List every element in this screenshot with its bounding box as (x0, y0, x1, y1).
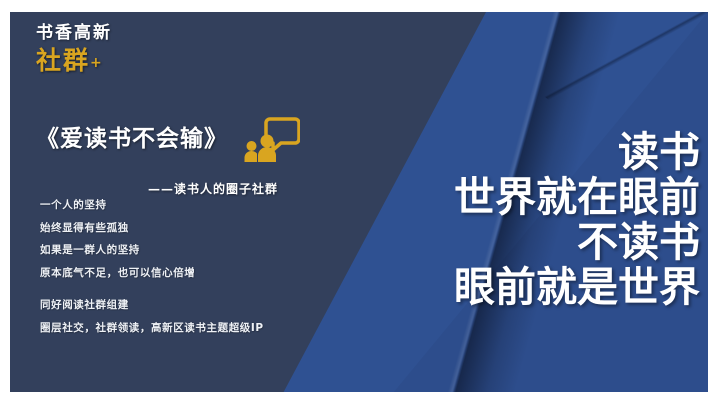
list-item: 原本底气不足，也可以信心倍增 (40, 268, 340, 279)
left-content-area: 书香高新 社群+ 《爱读书不会输》 ——读书人的圈子社 (10, 12, 443, 392)
headline-row: 《爱读书不会输》 (36, 116, 300, 162)
headline-subtitle: ——读书人的圈子社群 (148, 180, 278, 197)
slide-canvas: 书香高新 社群+ 《爱读书不会输》 ——读书人的圈子社 (0, 0, 720, 405)
brand-main-text: 社群 (36, 46, 90, 75)
artboard: 书香高新 社群+ 《爱读书不会输》 ——读书人的圈子社 (10, 12, 708, 392)
slogan-line-2: 世界就在眼前 (454, 175, 700, 220)
brand-logo: 书香高新 社群+ (36, 25, 112, 73)
brand-main-line: 社群+ (36, 48, 112, 73)
brand-top-line: 书香高新 (36, 25, 112, 42)
slogan-line-3: 不读书 (577, 220, 700, 265)
list-item: 始终显得有些孤独 (40, 223, 340, 234)
list-item: 如果是一群人的坚持 (40, 245, 340, 256)
list-item: 圈层社交，社群领读，高新区读书主题超级IP (40, 323, 380, 334)
slogan-line-1: 读书 (618, 130, 700, 175)
brand-plus-mark: + (90, 55, 104, 71)
page-title: 《爱读书不会输》 (36, 128, 228, 151)
slogan-line-4: 眼前就是世界 (454, 265, 700, 310)
slogan-area: 读书 世界就在眼前 不读书 眼前就是世界 (454, 12, 700, 392)
body-text-group-one: 一个人的坚持 始终显得有些孤独 如果是一群人的坚持 原本底气不足，也可以信心倍增 (40, 200, 340, 290)
list-item: 同好阅读社群组建 (40, 300, 380, 311)
list-item: 一个人的坚持 (40, 200, 340, 211)
body-text-group-two: 同好阅读社群组建 圈层社交，社群领读，高新区读书主题超级IP (40, 300, 380, 345)
people-speech-bubble-icon (244, 116, 300, 162)
